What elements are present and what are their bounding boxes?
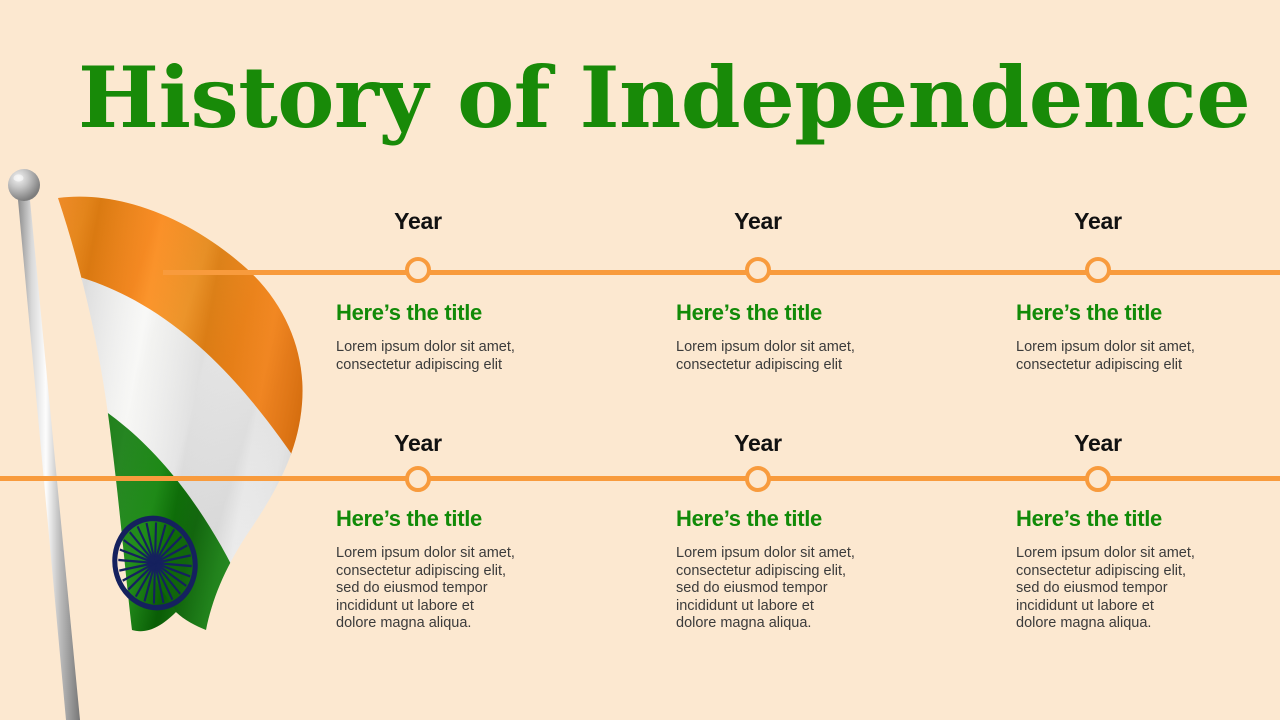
timeline-rail-row-1 xyxy=(163,270,1280,275)
milestone-title-r2-c2: Here’s the title xyxy=(676,506,916,532)
milestone-year-r1-c2: Year xyxy=(638,208,878,234)
milestone-text-r1-c3: Here’s the title Lorem ipsum dolor sit a… xyxy=(1016,300,1256,374)
indian-flag-illustration xyxy=(0,160,330,720)
timeline-node-r2-c2[interactable] xyxy=(745,466,771,492)
milestone-body-r2-c3: Lorem ipsum dolor sit amet, consectetur … xyxy=(1016,545,1196,633)
chakra-hub xyxy=(147,555,163,572)
flag-band-white xyxy=(34,268,304,584)
milestone-year-r2-c3: Year xyxy=(978,430,1218,456)
timeline-node-r1-c2[interactable] xyxy=(745,257,771,283)
timeline-node-r1-c3[interactable] xyxy=(1085,257,1111,283)
milestone-r2-c2: Year xyxy=(638,430,878,456)
milestone-r2-c3: Year xyxy=(978,430,1218,456)
milestone-body-r1-c2: Lorem ipsum dolor sit amet, consectetur … xyxy=(676,339,856,374)
milestone-text-r2-c3: Here’s the title Lorem ipsum dolor sit a… xyxy=(1016,506,1256,633)
page-title: History of Independence Day xyxy=(78,52,1251,144)
flag-band-saffron xyxy=(40,160,330,370)
flagpole xyxy=(18,200,80,720)
flag-band-green-tail xyxy=(14,476,206,716)
slide-canvas: History of Independence Day xyxy=(0,0,1280,720)
milestone-body-r1-c3: Lorem ipsum dolor sit amet, consectetur … xyxy=(1016,339,1196,374)
flag-band-saffron-lower xyxy=(40,180,312,470)
milestone-year-r1-c3: Year xyxy=(978,208,1218,234)
milestone-body-r2-c2: Lorem ipsum dolor sit amet, consectetur … xyxy=(676,545,856,633)
milestone-year-r1-c1: Year xyxy=(298,208,538,234)
indian-flag-svg xyxy=(0,160,330,720)
milestone-title-r1-c3: Here’s the title xyxy=(1016,300,1256,326)
milestone-title-r2-c3: Here’s the title xyxy=(1016,506,1256,532)
flagpole-finial-ball xyxy=(8,169,40,201)
milestone-body-r2-c1: Lorem ipsum dolor sit amet, consectetur … xyxy=(336,545,516,633)
milestone-text-r1-c2: Here’s the title Lorem ipsum dolor sit a… xyxy=(676,300,916,374)
milestone-r2-c1: Year xyxy=(298,430,538,456)
milestone-year-r2-c2: Year xyxy=(638,430,878,456)
timeline-node-r2-c1[interactable] xyxy=(405,466,431,492)
milestone-text-r1-c1: Here’s the title Lorem ipsum dolor sit a… xyxy=(336,300,576,374)
milestone-body-r1-c1: Lorem ipsum dolor sit amet, consectetur … xyxy=(336,339,516,374)
timeline-node-r1-c1[interactable] xyxy=(405,257,431,283)
milestone-year-r2-c1: Year xyxy=(298,430,538,456)
milestone-title-r2-c1: Here’s the title xyxy=(336,506,576,532)
timeline-node-r2-c3[interactable] xyxy=(1085,466,1111,492)
milestone-text-r2-c2: Here’s the title Lorem ipsum dolor sit a… xyxy=(676,506,916,633)
chakra-spokes xyxy=(111,515,199,610)
flag-band-green xyxy=(26,374,242,668)
flag-cloth xyxy=(0,160,330,720)
ashoka-chakra xyxy=(107,511,204,615)
milestone-r1-c1: Year xyxy=(298,208,538,234)
finial-highlight xyxy=(14,174,24,181)
milestone-r1-c2: Year xyxy=(638,208,878,234)
milestone-text-r2-c1: Here’s the title Lorem ipsum dolor sit a… xyxy=(336,506,576,633)
chakra-outer-ring xyxy=(107,511,204,615)
milestone-r1-c3: Year xyxy=(978,208,1218,234)
flag-fold-shading xyxy=(0,160,330,720)
milestone-title-r1-c1: Here’s the title xyxy=(336,300,576,326)
milestone-title-r1-c2: Here’s the title xyxy=(676,300,916,326)
